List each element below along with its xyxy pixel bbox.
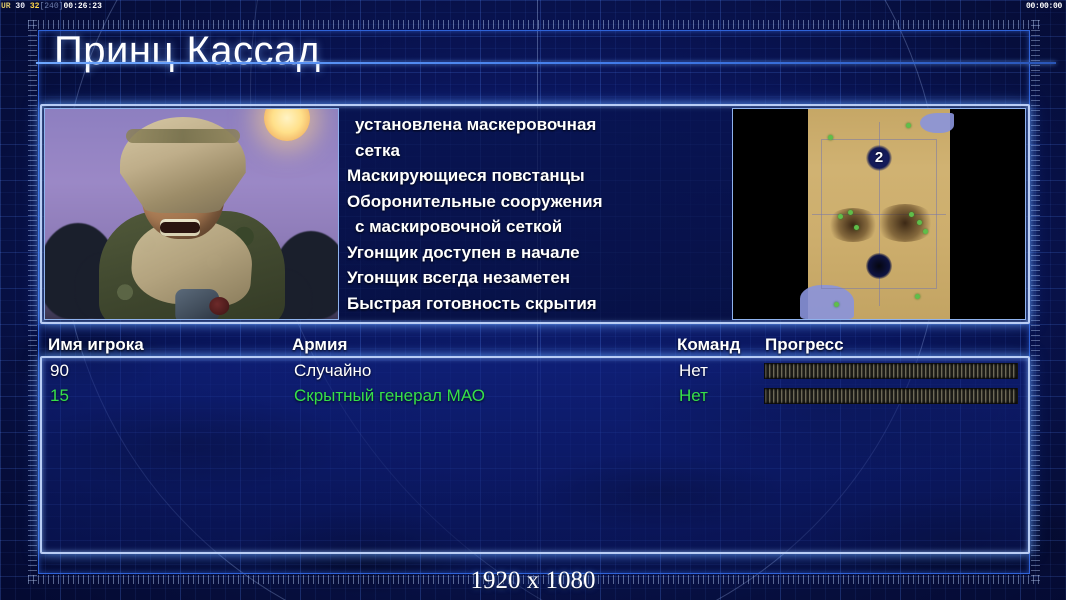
resolution-label: 1920 x 1080 — [471, 566, 596, 596]
description-line: Быстрая готовность скрытия — [347, 291, 726, 317]
description-line: сетка — [347, 138, 726, 164]
description-line: от СВМ — [347, 316, 726, 320]
map-image: 2 — [808, 109, 950, 319]
column-header-army: Армия — [292, 334, 347, 356]
player-progress — [764, 363, 1018, 379]
portrait-headwrap — [120, 117, 246, 213]
table-row: 90 Случайно Нет — [42, 358, 1028, 383]
description-line: установлена маскеровочная — [347, 112, 726, 138]
player-team: Нет — [679, 383, 708, 408]
debug-hud: UR 30 32[240]00:26:23 00:00:00 — [0, 0, 1066, 13]
map-tree — [923, 229, 928, 234]
column-header-progress: Прогресс — [765, 334, 844, 356]
progress-bar — [764, 363, 1018, 379]
map-spawn-marker-2: 2 — [866, 145, 892, 171]
title-underline — [36, 62, 1056, 64]
map-terrain-detail — [826, 208, 880, 242]
player-list-header: Имя игрока Армия Команд Прогресс — [40, 334, 1026, 356]
column-header-team: Команд — [677, 334, 740, 356]
page-title: Принц Кассад — [54, 26, 1022, 76]
map-tree — [848, 210, 853, 215]
map-tree — [909, 212, 914, 217]
description-line: Маскирующиеся повстанцы — [347, 163, 726, 189]
frame-ruler-right — [1031, 20, 1040, 584]
table-row: 15 Скрытный генерал МАО Нет — [42, 383, 1028, 408]
player-team: Нет — [679, 358, 708, 383]
footer: 1920 x 1080 — [0, 566, 1066, 596]
hud-value-1: 30 — [15, 2, 25, 11]
player-progress — [764, 388, 1018, 404]
description-line: с маскировочной сеткой — [347, 214, 726, 240]
frame-ruler-left — [28, 20, 37, 584]
title-bar: Принц Кассад — [40, 26, 1022, 76]
general-portrait — [44, 108, 339, 320]
player-name: 15 — [50, 383, 69, 408]
map-water — [800, 285, 854, 319]
general-info-panel: установлена маскеровочная сетка Маскирую… — [40, 104, 1030, 324]
map-preview: 2 — [732, 108, 1026, 320]
general-description: установлена маскеровочная сетка Маскирую… — [339, 108, 732, 320]
sun-decoration — [264, 108, 310, 141]
hud-bracket: [240] — [39, 2, 63, 11]
column-header-name: Имя игрока — [48, 334, 144, 356]
progress-bar — [764, 388, 1018, 404]
description-line: Угонщик доступен в начале — [347, 240, 726, 266]
player-army: Скрытный генерал МАО — [294, 383, 485, 408]
portrait-mouth — [160, 219, 200, 236]
map-terrain-detail — [874, 204, 936, 242]
map-tree — [834, 302, 839, 307]
hud-tag: UR — [1, 2, 11, 11]
player-name: 90 — [50, 358, 69, 383]
map-tree — [906, 123, 911, 128]
description-line: Оборонительные сооружения — [347, 189, 726, 215]
map-water — [920, 113, 954, 133]
loading-screen: UR 30 32[240]00:26:23 00:00:00 Принц Кас… — [0, 0, 1066, 600]
portrait-equipment — [175, 289, 219, 320]
map-tree — [915, 294, 920, 299]
description-line: Угонщик всегда незаметен — [347, 265, 726, 291]
map-tree — [838, 214, 843, 219]
hud-right-clock: 00:00:00 — [1026, 0, 1062, 13]
map-tree — [854, 225, 859, 230]
hud-clock: 00:26:23 — [63, 2, 101, 11]
map-spawn-marker-1 — [866, 253, 892, 279]
hud-value-2: 32 — [30, 2, 40, 11]
map-tree — [828, 135, 833, 140]
hud-performance-readout: UR 30 32[240]00:26:23 — [1, 0, 102, 13]
player-list-panel: 90 Случайно Нет 15 Скрытный генерал МАО … — [40, 356, 1030, 554]
player-army: Случайно — [294, 358, 371, 383]
